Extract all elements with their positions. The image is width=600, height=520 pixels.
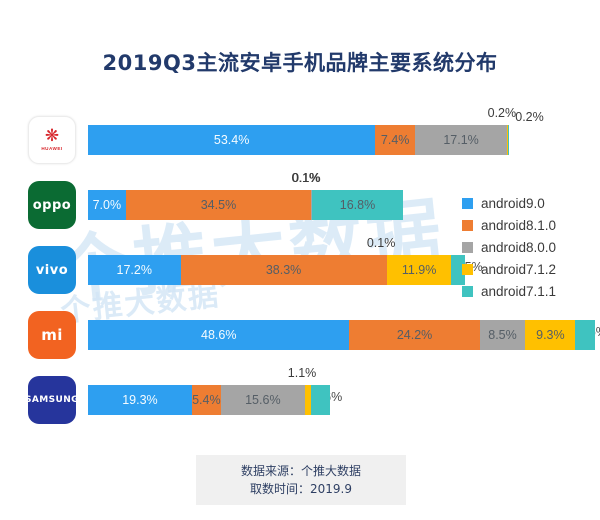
stacked-bar: 17.2%38.3%11.9%	[88, 255, 465, 285]
bar-segment[interactable]: 38.3%	[181, 255, 387, 285]
brand-logo-label: SAMSUNG	[25, 395, 79, 405]
bar-segment[interactable]: 16.8%	[312, 190, 402, 220]
legend-item[interactable]: android7.1.2	[462, 258, 556, 280]
footer-note: 数据来源：个推大数据 取数时间：2019.9	[196, 455, 406, 505]
bar-segment[interactable]: 34.5%	[126, 190, 312, 220]
legend-swatch-icon	[462, 220, 473, 231]
brand-logo-label: vivo	[36, 263, 68, 278]
brand-logo-mi: mi	[28, 311, 76, 359]
bar-segment[interactable]: 7.4%	[375, 125, 415, 155]
bar-segment-callout-label: 0.2%	[515, 110, 544, 124]
legend-item[interactable]: android8.0.0	[462, 236, 556, 258]
bar-segment-callout-label: 0.1%	[367, 236, 396, 250]
legend-item-label: android9.0	[481, 196, 545, 211]
bar-segment[interactable]: 24.2%	[349, 320, 479, 350]
legend-swatch-icon	[462, 286, 473, 297]
stacked-bar: 7.0%34.5%16.8%	[88, 190, 403, 220]
chart-row: mi3.6%48.6%24.2%8.5%9.3%	[0, 303, 600, 368]
bar-segment[interactable]: 19.3%	[88, 385, 192, 415]
bar-segment[interactable]: 17.1%	[415, 125, 507, 155]
stacked-bar: 53.4%7.4%17.1%	[88, 125, 509, 155]
brand-logo-oppo: oppo	[28, 181, 76, 229]
bar-segment[interactable]: 17.2%	[88, 255, 181, 285]
brand-logo-huawei: ❋HUAWEI	[28, 116, 76, 164]
chart-row: SAMSUNG1.1%3.6%19.3%5.4%15.6%	[0, 368, 600, 433]
legend-swatch-icon	[462, 198, 473, 209]
bar-segment[interactable]: 15.6%	[221, 385, 305, 415]
chart-page: 个推大数据 个推大数据 2019Q3主流安卓手机品牌主要系统分布 ❋HUAWEI…	[0, 0, 600, 520]
stacked-bar: 48.6%24.2%8.5%9.3%	[88, 320, 595, 350]
brand-logo-label: oppo	[33, 198, 71, 213]
bar-segment[interactable]: 48.6%	[88, 320, 349, 350]
legend-item-label: android7.1.1	[481, 284, 556, 299]
bar-segment[interactable]: 8.5%	[480, 320, 526, 350]
bar-segment[interactable]	[311, 385, 330, 415]
chart-title: 2019Q3主流安卓手机品牌主要系统分布	[0, 47, 600, 77]
brand-logo-vivo: vivo	[28, 246, 76, 294]
brand-logo-label: mi	[41, 326, 63, 344]
legend-item[interactable]: android7.1.1	[462, 280, 556, 302]
huawei-flower-icon: ❋	[45, 129, 59, 144]
bar-segment[interactable]: 7.0%	[88, 190, 126, 220]
bar-segment[interactable]: 5.4%	[192, 385, 221, 415]
bar-segment[interactable]: 11.9%	[387, 255, 451, 285]
legend-swatch-icon	[462, 242, 473, 253]
footer-time-line: 取数时间：2019.9	[250, 480, 352, 498]
bar-segment[interactable]: 53.4%	[88, 125, 375, 155]
bar-segment[interactable]	[575, 320, 594, 350]
chart-legend: android9.0android8.1.0android8.0.0androi…	[462, 192, 556, 302]
bar-segment-callout-label: 0.1%	[292, 171, 321, 185]
legend-item-label: android8.0.0	[481, 240, 556, 255]
footer-source-line: 数据来源：个推大数据	[241, 462, 361, 480]
legend-swatch-icon	[462, 264, 473, 275]
legend-item[interactable]: android8.1.0	[462, 214, 556, 236]
bar-segment-callout-label: 0.2%	[488, 106, 517, 120]
chart-row: ❋HUAWEI0.2%0.2%53.4%7.4%17.1%	[0, 108, 600, 173]
bar-segment[interactable]: 9.3%	[525, 320, 575, 350]
bar-segment[interactable]	[508, 125, 509, 155]
legend-item-label: android8.1.0	[481, 218, 556, 233]
brand-logo-samsung: SAMSUNG	[28, 376, 76, 424]
stacked-bar: 19.3%5.4%15.6%	[88, 385, 330, 415]
legend-item-label: android7.1.2	[481, 262, 556, 277]
legend-item[interactable]: android9.0	[462, 192, 556, 214]
bar-segment-callout-label: 1.1%	[288, 366, 317, 380]
brand-logo-label: HUAWEI	[41, 146, 62, 151]
